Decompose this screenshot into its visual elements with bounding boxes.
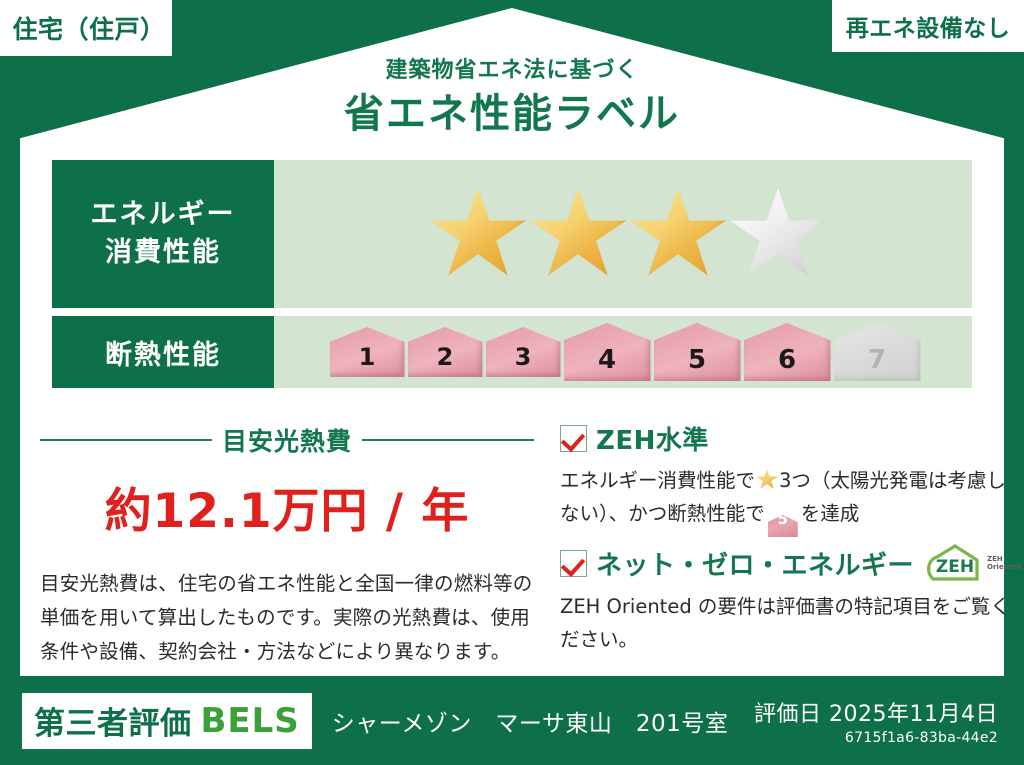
energy-label-line2: 消費性能 bbox=[105, 234, 221, 272]
insulation-house-icon-inline: 5 bbox=[768, 515, 798, 537]
svg-text:ZEH: ZEH bbox=[936, 557, 974, 577]
evaluation-id: 6715f1a6-83ba-44e2 bbox=[754, 730, 998, 746]
zeh-oriented-logo: ZEH ZEH Oriented bbox=[927, 543, 1022, 583]
cost-heading: 目安光熱費 bbox=[40, 422, 534, 458]
insulation-house-icon-6: 6 bbox=[744, 323, 831, 381]
energy-label-line1: エネルギー bbox=[91, 196, 236, 234]
insulation-performance-row: 断熱性能 1 2 3 4 5 6 7 bbox=[52, 316, 972, 388]
cost-column: 目安光熱費 約12.1万円 / 年 目安光熱費は、住宅の省エネ性能と全国一律の燃… bbox=[40, 420, 548, 660]
insulation-house-icon-7: 7 bbox=[834, 323, 921, 381]
star-icon-inline bbox=[756, 469, 778, 490]
badge-building-type: 住宅（住戸） bbox=[0, 0, 172, 56]
ratings-panel: エネルギー 消費性能 断熱性能 1 2 3 4 5 6 7 bbox=[52, 160, 972, 388]
cost-value: 約12.1万円 / 年 bbox=[40, 472, 534, 541]
insulation-house-icon-3: 3 bbox=[486, 327, 561, 377]
cost-heading-text: 目安光熱費 bbox=[222, 422, 352, 458]
net-zero-energy-block: ネット・ゼロ・エネルギー ZEH ZEH Oriented bbox=[560, 543, 1022, 656]
zeh-standard-title: ZEH水準 bbox=[596, 420, 709, 457]
lower-content: 目安光熱費 約12.1万円 / 年 目安光熱費は、住宅の省エネ性能と全国一律の燃… bbox=[40, 420, 984, 660]
insulation-house-icon-5: 5 bbox=[654, 323, 741, 381]
badge-renewable-energy: 再エネ設備なし bbox=[832, 0, 1024, 52]
title-main: 省エネ性能ラベル bbox=[0, 88, 1024, 140]
energy-performance-label: 住宅（住戸） 再エネ設備なし 建築物省エネ法に基づく 省エネ性能ラベル エネルギ… bbox=[0, 0, 1024, 765]
zeh-standard-block: ZEH水準 エネルギー消費性能で3つ（太陽光発電は考慮しない）、かつ断熱性能で5… bbox=[560, 420, 1022, 537]
net-zero-energy-body: ZEH Oriented の要件は評価書の特記項目をご覧ください。 bbox=[560, 590, 1022, 656]
zeh-standard-body-part3: を達成 bbox=[801, 502, 860, 525]
zeh-standard-head: ZEH水準 bbox=[560, 420, 1022, 457]
zeh-standard-body: エネルギー消費性能で3つ（太陽光発電は考慮しない）、かつ断熱性能で5を達成 bbox=[560, 464, 1022, 537]
net-zero-energy-head: ネット・ゼロ・エネルギー ZEH ZEH Oriented bbox=[560, 543, 1022, 583]
energy-consumption-row: エネルギー 消費性能 bbox=[52, 160, 972, 308]
energy-consumption-label: エネルギー 消費性能 bbox=[52, 160, 274, 308]
star-icon-3 bbox=[630, 188, 726, 280]
certification-column: ZEH水準 エネルギー消費性能で3つ（太陽光発電は考慮しない）、かつ断熱性能で5… bbox=[548, 420, 1022, 660]
label-title-zone: 建築物省エネ法に基づく 省エネ性能ラベル bbox=[0, 56, 1024, 140]
cost-disclaimer: 目安光熱費は、住宅の省エネ性能と全国一律の燃料等の単価を用いて算出したものです。… bbox=[40, 567, 534, 669]
zeh-tag-line2: Oriented bbox=[987, 563, 1022, 571]
net-zero-energy-title: ネット・ゼロ・エネルギー bbox=[596, 545, 914, 582]
star-rating bbox=[274, 160, 972, 308]
check-icon-net-zero-energy bbox=[560, 550, 587, 577]
star-icon-4 bbox=[730, 188, 826, 280]
evaluation-date: 評価日 2025年11月4日 bbox=[754, 696, 998, 728]
zeh-tag-line1: ZEH bbox=[987, 555, 1003, 563]
title-subtitle: 建築物省エネ法に基づく bbox=[0, 56, 1024, 86]
footer-meta: 評価日 2025年11月4日 6715f1a6-83ba-44e2 bbox=[754, 696, 998, 746]
cost-rule-left bbox=[40, 439, 212, 441]
zeh-house-icon: ZEH bbox=[927, 543, 985, 583]
label-footer: 第三者評価 BELS シャーメゾン マーサ東山 201号室 評価日 2025年1… bbox=[0, 676, 1024, 765]
insulation-house-icon-4: 4 bbox=[564, 323, 651, 381]
star-icon-2 bbox=[530, 188, 626, 280]
insulation-house-icon-2: 2 bbox=[408, 327, 483, 377]
property-name: シャーメゾン マーサ東山 201号室 bbox=[332, 704, 729, 738]
zeh-oriented-tag: ZEH Oriented bbox=[987, 555, 1022, 571]
insulation-label-text: 断熱性能 bbox=[105, 333, 221, 372]
insulation-house-icon-1: 1 bbox=[330, 327, 405, 377]
insulation-label: 断熱性能 bbox=[52, 316, 274, 388]
star-icon-1 bbox=[430, 188, 526, 280]
insulation-scale: 1 2 3 4 5 6 7 bbox=[274, 316, 972, 388]
zeh-standard-body-part1: エネルギー消費性能で bbox=[560, 469, 755, 492]
bels-badge: 第三者評価 BELS bbox=[22, 693, 312, 749]
check-icon-zeh-standard bbox=[560, 425, 587, 452]
cost-rule-right bbox=[362, 439, 534, 441]
bels-jp-text: 第三者評価 bbox=[34, 698, 192, 743]
bels-en-text: BELS bbox=[201, 701, 300, 741]
